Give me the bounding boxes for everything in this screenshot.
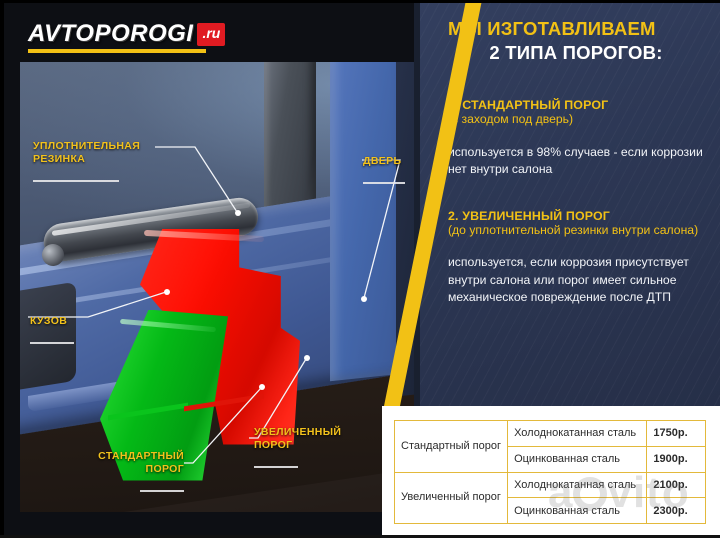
section-standard-body: используется в 98% случаев - если корроз… (448, 144, 710, 179)
table-row: Стандартный порог Холоднокатанная сталь … (395, 421, 706, 447)
label-standard-sill: СТАНДАРТНЫЙ ПОРОГ (86, 437, 184, 504)
section-enlarged-title: 2. УВЕЛИЧЕННЫЙ ПОРОГ (448, 209, 710, 223)
poster-canvas: AVTOPOROGI .ru (0, 0, 720, 538)
diagram-panel: AVTOPOROGI .ru (0, 0, 420, 538)
price-table-area: Стандартный порог Холоднокатанная сталь … (382, 406, 720, 538)
cell-material: Холоднокатанная сталь (508, 472, 647, 498)
label-seal: УПЛОТНИТЕЛЬНАЯ РЕЗИНКА (33, 127, 158, 194)
cell-price: 2300р. (647, 498, 706, 524)
section-enlarged-body: используется, если коррозия присутствует… (448, 254, 710, 306)
logo-underline (28, 49, 206, 53)
frame-edge-left (0, 0, 4, 538)
row-group-standard-name: Стандартный порог (395, 421, 508, 473)
section-standard: 1. СТАНДАРТНЫЙ ПОРОГ (с заходом под двер… (448, 98, 710, 179)
label-door-rule (363, 182, 405, 184)
cell-material: Холоднокатанная сталь (508, 421, 647, 447)
label-enlarged-text: УВЕЛИЧЕННЫЙ ПОРОГ (254, 426, 364, 452)
cell-price: 2100р. (647, 472, 706, 498)
frame-edge-top (0, 0, 720, 3)
label-door: ДВЕРЬ (363, 142, 405, 197)
label-standard-rule (140, 490, 184, 492)
section-enlarged: 2. УВЕЛИЧЕННЫЙ ПОРОГ (до уплотнительной … (448, 209, 710, 307)
logo[interactable]: AVTOPOROGI .ru (28, 20, 225, 53)
section-enlarged-subtitle: (до уплотнительной резинки внутри салона… (448, 223, 710, 239)
panel-heading-line1: МЫ ИЗГОТАВЛИВАЕМ (448, 18, 710, 40)
cell-material: Оцинкованная сталь (508, 446, 647, 472)
table-row: Увеличенный порог Холоднокатанная сталь … (395, 472, 706, 498)
row-group-enlarged-name: Увеличенный порог (395, 472, 508, 524)
panel-heading-line2: 2 ТИПА ПОРОГОВ: (448, 42, 710, 64)
label-seal-text: УПЛОТНИТЕЛЬНАЯ РЕЗИНКА (33, 140, 158, 166)
cell-material: Оцинкованная сталь (508, 498, 647, 524)
section-standard-title: 1. СТАНДАРТНЫЙ ПОРОГ (448, 98, 710, 112)
label-body-text: КУЗОВ (30, 315, 74, 328)
label-standard-text: СТАНДАРТНЫЙ ПОРОГ (86, 450, 184, 476)
logo-tld-badge: .ru (197, 23, 225, 46)
label-enlarged-rule (254, 466, 298, 468)
label-enlarged-sill: УВЕЛИЧЕННЫЙ ПОРОГ (254, 413, 364, 480)
label-body: КУЗОВ (30, 302, 74, 357)
logo-brand-text: AVTOPOROGI (28, 20, 193, 48)
section-standard-subtitle: (с заходом под дверь) (448, 112, 710, 128)
logo-tld-text: .ru (202, 25, 220, 41)
label-door-text: ДВЕРЬ (363, 155, 405, 168)
info-panel: МЫ ИЗГОТАВЛИВАЕМ 2 ТИПА ПОРОГОВ: 1. СТАН… (420, 0, 720, 406)
cell-price: 1900р. (647, 446, 706, 472)
cell-price: 1750р. (647, 421, 706, 447)
label-body-rule (30, 342, 74, 344)
label-seal-rule (33, 180, 119, 182)
price-table: Стандартный порог Холоднокатанная сталь … (394, 420, 706, 524)
